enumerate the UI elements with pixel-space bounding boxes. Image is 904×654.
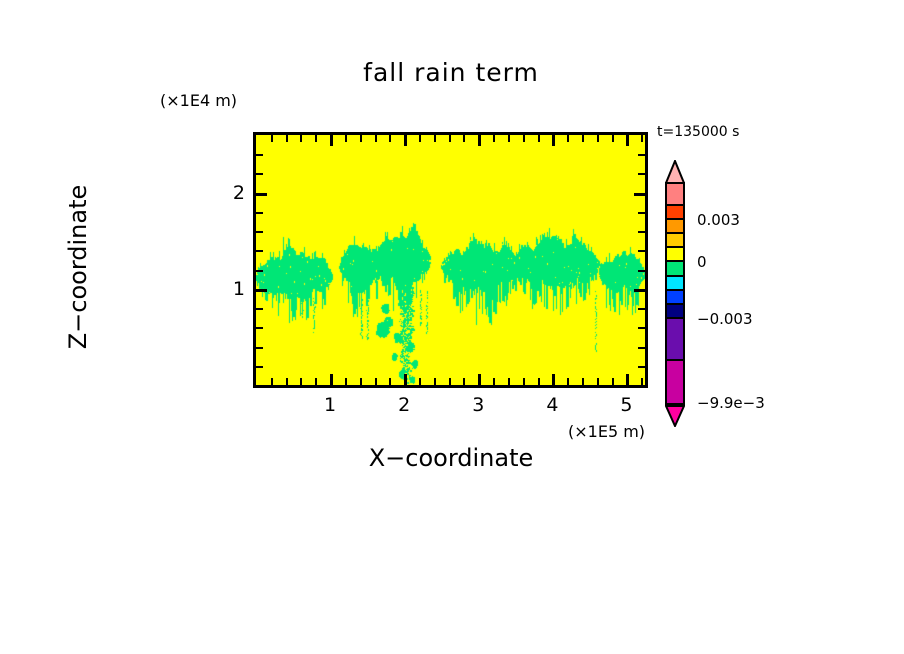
x-minor-tick-top [612,135,614,142]
x-tick-label: 4 [546,394,558,416]
colorbar-band [667,262,683,277]
x-major-tick [404,374,407,385]
x-tick-label: 3 [472,394,484,416]
y-minor-tick-right [638,250,645,252]
x-minor-tick [597,378,599,385]
x-minor-tick-top [582,135,584,142]
colorbar-tick-label: 0.003 [697,211,740,229]
y-minor-tick-right [638,231,645,233]
x-minor-tick [582,378,584,385]
x-minor-tick [360,378,362,385]
x-minor-tick [612,378,614,385]
x-minor-tick-top [567,135,569,142]
y-minor-tick [256,270,263,272]
x-minor-tick-top [345,135,347,142]
page-title: fall rain term [253,58,649,87]
y-axis-units-label: (×1E4 m) [160,91,237,110]
x-minor-tick-top [538,135,540,142]
colorbar-extend-down-icon [665,405,685,427]
x-minor-tick-top [449,135,451,142]
y-minor-tick [256,308,263,310]
x-minor-tick-top [597,135,599,142]
y-minor-tick-right [638,308,645,310]
x-axis-units-label: (×1E5 m) [568,422,645,441]
colorbar-tick-label: −0.003 [697,310,753,328]
colorbar-band [667,234,683,248]
y-minor-tick [256,347,263,349]
time-annotation: t=135000 s [657,124,739,140]
x-major-tick [478,374,481,385]
y-tick-label: 2 [223,182,245,204]
colorbar-band [667,291,683,305]
colorbar-bands [665,182,685,405]
x-minor-tick [345,378,347,385]
y-major-tick-right [634,289,645,292]
y-major-tick [256,289,267,292]
colorbar-band [667,248,683,262]
x-minor-tick-top [271,135,273,142]
x-major-tick-top [478,135,481,146]
colorbar-band [667,206,683,220]
y-minor-tick [256,250,263,252]
colorbar-band [667,305,683,319]
colorbar-band [667,220,683,234]
x-minor-tick [315,378,317,385]
x-minor-tick-top [493,135,495,142]
y-minor-tick [256,173,263,175]
y-minor-tick-right [638,173,645,175]
x-major-tick-top [552,135,555,146]
y-tick-label: 1 [223,278,245,300]
y-minor-tick-right [638,347,645,349]
x-tick-label: 5 [620,394,632,416]
x-minor-tick [538,378,540,385]
y-minor-tick [256,154,263,156]
x-major-tick-top [330,135,333,146]
x-minor-tick [641,378,643,385]
y-minor-tick [256,327,263,329]
x-minor-tick-top [434,135,436,142]
x-minor-tick [567,378,569,385]
y-minor-tick [256,366,263,368]
y-minor-tick-right [638,366,645,368]
x-minor-tick [508,378,510,385]
y-major-tick-right [634,193,645,196]
x-major-tick [330,374,333,385]
y-major-tick [256,193,267,196]
x-minor-tick [419,378,421,385]
colorbar-band [667,277,683,291]
x-major-tick [626,374,629,385]
x-minor-tick [449,378,451,385]
x-minor-tick-top [523,135,525,142]
x-minor-tick-top [286,135,288,142]
x-major-tick [552,374,555,385]
x-minor-tick [300,378,302,385]
x-minor-tick-top [300,135,302,142]
x-minor-tick [493,378,495,385]
y-minor-tick-right [638,270,645,272]
x-minor-tick [286,378,288,385]
x-minor-tick [463,378,465,385]
x-minor-tick-top [315,135,317,142]
colorbar-band [667,319,683,361]
x-major-tick-top [626,135,629,146]
x-minor-tick-top [508,135,510,142]
colorbar-extend-up-icon [665,160,685,184]
x-minor-tick [375,378,377,385]
figure-canvas: fall rain term (×1E4 m) Z−coordinate X−c… [0,0,904,654]
x-minor-tick [389,378,391,385]
x-minor-tick-top [389,135,391,142]
y-minor-tick [256,231,263,233]
x-axis-title: X−coordinate [253,444,649,472]
y-minor-tick-right [638,154,645,156]
x-minor-tick-top [360,135,362,142]
x-tick-label: 2 [398,394,410,416]
x-minor-tick-top [419,135,421,142]
x-minor-tick-top [463,135,465,142]
y-minor-tick [256,212,263,214]
x-minor-tick [523,378,525,385]
y-minor-tick-right [638,212,645,214]
x-minor-tick [271,378,273,385]
plot-area [253,132,648,388]
x-tick-label: 1 [324,394,336,416]
y-axis-title: Z−coordinate [64,117,92,417]
y-minor-tick-right [638,327,645,329]
colorbar-tick-label: −9.9e−3 [697,394,765,412]
field-heatmap [256,135,645,385]
x-minor-tick-top [375,135,377,142]
x-major-tick-top [404,135,407,146]
colorbar-band [667,361,683,403]
colorbar-tick-label: 0 [697,253,707,271]
x-minor-tick-top [641,135,643,142]
x-minor-tick [434,378,436,385]
colorbar-band [667,184,683,206]
